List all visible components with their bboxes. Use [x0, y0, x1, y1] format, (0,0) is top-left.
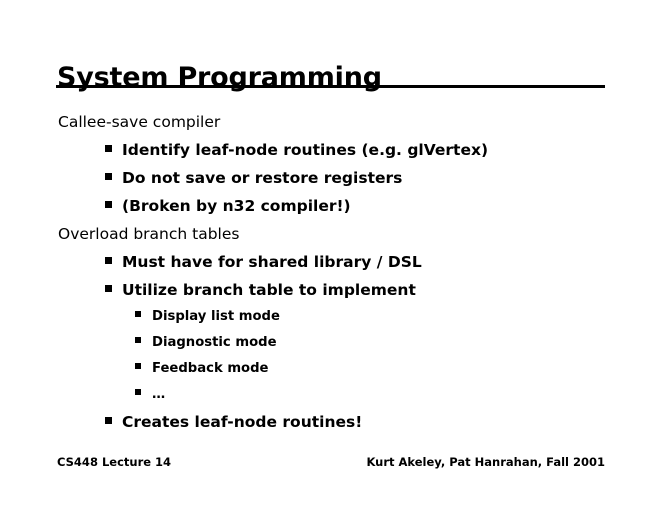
- bullet-item-label: Creates leaf-node routines!: [122, 408, 362, 436]
- square-bullet-icon: [105, 145, 112, 152]
- bullet-item-label: Display list mode: [152, 304, 280, 330]
- bullet-item-label: Callee-save compiler: [58, 108, 220, 136]
- bullet-item-level-2: Do not save or restore registers: [0, 164, 660, 192]
- bullet-item-level-2: Must have for shared library / DSL: [0, 248, 660, 276]
- bullet-item-label: Overload branch tables: [58, 220, 239, 248]
- bullet-item-label: (Broken by n32 compiler!): [122, 192, 351, 220]
- slide-footer: CS448 Lecture 14 Kurt Akeley, Pat Hanrah…: [57, 455, 605, 469]
- square-bullet-icon: [135, 311, 141, 317]
- presentation-slide: System Programming Callee-save compilerI…: [0, 0, 660, 510]
- slide-body-list: Callee-save compilerIdentify leaf-node r…: [0, 108, 660, 436]
- bullet-item-level-2: Identify leaf-node routines (e.g. glVert…: [0, 136, 660, 164]
- bullet-item-label: Identify leaf-node routines (e.g. glVert…: [122, 136, 488, 164]
- bullet-item-level-2: (Broken by n32 compiler!): [0, 192, 660, 220]
- bullet-item-level-2: Creates leaf-node routines!: [0, 408, 660, 436]
- square-bullet-icon: [135, 389, 141, 395]
- bullet-item-level-3: Display list mode: [0, 304, 660, 330]
- title-divider-rule: [56, 85, 605, 88]
- square-bullet-icon: [105, 201, 112, 208]
- bullet-item-label: Utilize branch table to implement: [122, 276, 416, 304]
- bullet-item-level-3: …: [0, 382, 660, 408]
- square-bullet-icon: [105, 285, 112, 292]
- footer-course-label: CS448 Lecture 14: [57, 455, 171, 469]
- bullet-item-level-3: Feedback mode: [0, 356, 660, 382]
- bullet-item-label: Must have for shared library / DSL: [122, 248, 422, 276]
- bullet-item-level-3: Diagnostic mode: [0, 330, 660, 356]
- bullet-item-label: …: [152, 382, 165, 408]
- bullet-item-level-1: Overload branch tables: [0, 220, 660, 248]
- square-bullet-icon: [135, 363, 141, 369]
- bullet-item-label: Diagnostic mode: [152, 330, 277, 356]
- bullet-item-level-2: Utilize branch table to implement: [0, 276, 660, 304]
- bullet-item-label: Feedback mode: [152, 356, 269, 382]
- bullet-item-label: Do not save or restore registers: [122, 164, 402, 192]
- footer-authors-label: Kurt Akeley, Pat Hanrahan, Fall 2001: [366, 455, 605, 469]
- square-bullet-icon: [135, 337, 141, 343]
- bullet-item-level-1: Callee-save compiler: [0, 108, 660, 136]
- square-bullet-icon: [105, 417, 112, 424]
- page-title: System Programming: [57, 61, 382, 95]
- square-bullet-icon: [105, 173, 112, 180]
- square-bullet-icon: [105, 257, 112, 264]
